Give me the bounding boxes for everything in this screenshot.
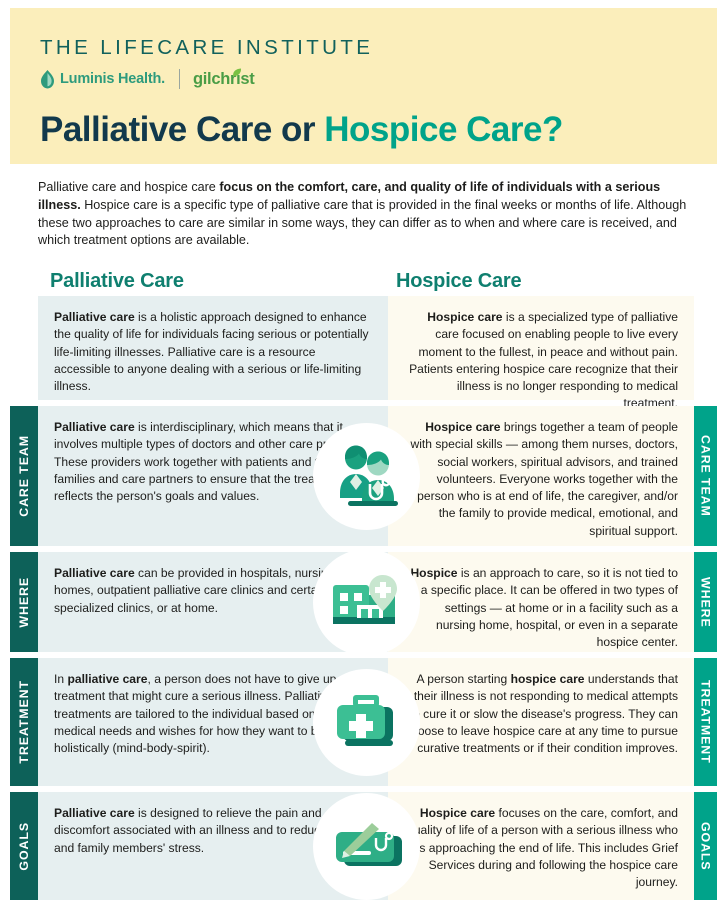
cell-bold-lead: Palliative care [54, 420, 135, 434]
leaf-icon [232, 65, 241, 74]
row-tab-left-label: CARE TEAM [17, 435, 31, 517]
row-tab-left-label: TREATMENT [17, 680, 31, 764]
hospice-cell: A person starting hospice care understan… [388, 658, 694, 786]
cell-bold-lead: hospice care [511, 672, 585, 686]
row-tab-left: TREATMENT [10, 658, 38, 786]
cell-prefix: A person starting [416, 672, 510, 686]
comparison-row: Palliative care is a holistic approach d… [0, 296, 727, 400]
cell-bold-lead: Hospice care [425, 420, 500, 434]
column-heading-palliative: Palliative Care [50, 270, 184, 293]
row-tab-right: GOALS [694, 792, 717, 900]
cell-bold-lead: Hospice care [420, 806, 495, 820]
row-tab-left: WHERE [10, 552, 38, 652]
page-title-part-1: Palliative Care or [40, 110, 324, 149]
gilchrist-wordmark: gilchrist [193, 70, 254, 88]
hospital-building-icon [313, 549, 420, 656]
row-tab-right-label: TREATMENT [699, 680, 713, 764]
header-banner: THE LIFECARE INSTITUTE Luminis Health. g… [10, 8, 717, 164]
row-tab-left-label: WHERE [17, 577, 31, 628]
row-tab-right: WHERE [694, 552, 717, 652]
luminis-health-wordmark: Luminis Health. [60, 71, 165, 87]
page-title: Palliative Care or Hospice Care? [40, 110, 563, 150]
clipboard-stethoscope-icon [313, 793, 420, 900]
hospice-cell: Hospice care brings together a team of p… [388, 406, 694, 546]
hospice-cell: Hospice is an approach to care, so it is… [388, 552, 694, 652]
logo-row: Luminis Health. gilchrist [40, 68, 254, 90]
cell-prefix: In [54, 672, 67, 686]
hospice-cell: Hospice care is a specialized type of pa… [388, 296, 694, 400]
row-tab-left: GOALS [10, 792, 38, 900]
luminis-flame-icon [40, 70, 55, 89]
cell-body-text: is an approach to care, so it is not tie… [421, 566, 678, 649]
cell-body-text: brings together a team of people with sp… [410, 420, 678, 538]
institute-title: THE LIFECARE INSTITUTE [40, 36, 373, 60]
row-tab-left: CARE TEAM [10, 406, 38, 546]
row-tab-right: CARE TEAM [694, 406, 717, 546]
row-tab-left-label: GOALS [17, 822, 31, 871]
page-title-part-2: Hospice Care? [324, 110, 563, 149]
cell-bold-lead: Hospice [410, 566, 457, 580]
cell-body-text: is a specialized type of palliative care… [409, 310, 678, 410]
hospice-cell: Hospice care focuses on the care, comfor… [388, 792, 694, 900]
infographic-page: THE LIFECARE INSTITUTE Luminis Health. g… [0, 0, 727, 921]
cell-bold-lead: Palliative care [54, 310, 135, 324]
intro-seg-2: Hospice care is a specific type of palli… [38, 198, 686, 248]
cell-bold-lead: Palliative care [54, 566, 135, 580]
column-heading-hospice: Hospice Care [396, 270, 521, 293]
row-tab-right-label: CARE TEAM [699, 435, 713, 517]
care-team-icon [313, 423, 420, 530]
row-tab-right-label: GOALS [699, 822, 713, 871]
cell-bold-lead: Palliative care [54, 806, 135, 820]
cell-bold-lead: palliative care [67, 672, 147, 686]
row-tab-right-label: WHERE [699, 577, 713, 628]
row-tab-right: TREATMENT [694, 658, 717, 786]
intro-seg-1: Palliative care and hospice care [38, 180, 219, 194]
gilchrist-logo: gilchrist [193, 70, 254, 89]
cell-bold-lead: Hospice care [427, 310, 502, 324]
intro-paragraph: Palliative care and hospice care focus o… [38, 179, 694, 250]
logo-divider [179, 69, 180, 89]
first-aid-kit-icon [313, 669, 420, 776]
palliative-cell: Palliative care is a holistic approach d… [38, 296, 388, 400]
